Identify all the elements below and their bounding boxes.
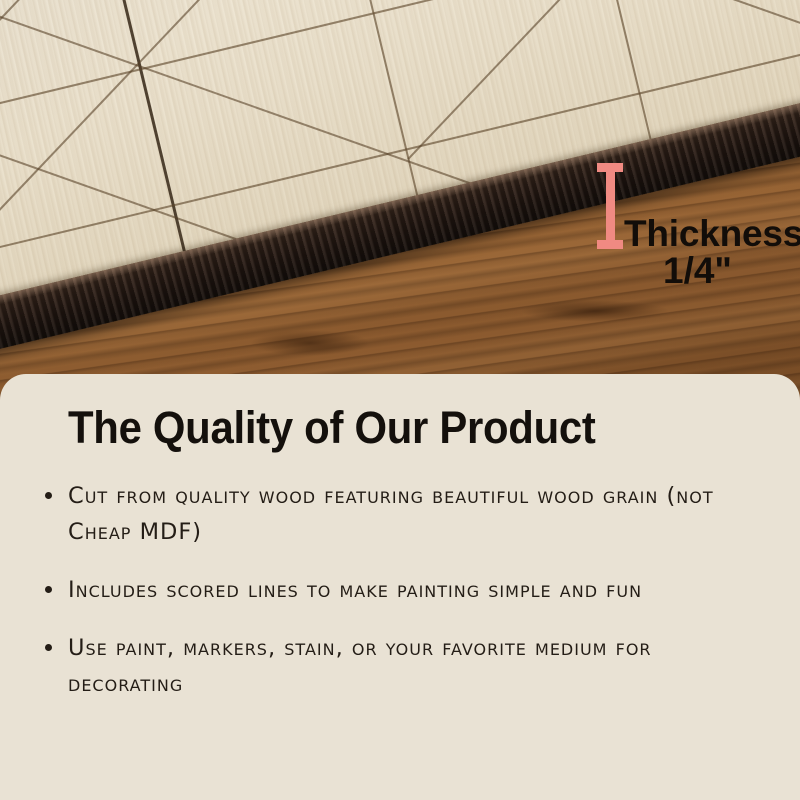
bullet-dot-icon (45, 492, 52, 499)
list-item-text: Includes scored lines to make painting s… (68, 577, 642, 603)
wood-knot (520, 300, 670, 322)
scored-line-diagonal (334, 0, 800, 113)
list-item-text: Use paint, markers, stain, or your favor… (68, 635, 652, 697)
list-item: Includes scored lines to make painting s… (40, 572, 770, 608)
bullet-dot-icon (45, 586, 52, 593)
scored-line-horizontal (0, 0, 800, 13)
page-title: The Quality of Our Product (68, 402, 596, 454)
thickness-bracket-icon (597, 163, 623, 249)
thickness-label: Thickness (624, 213, 800, 255)
list-item-text: Cut from quality wood featuring beautifu… (68, 483, 714, 545)
wood-knot (250, 330, 370, 356)
product-feature-graphic: Thickness 1/4" The Quality of Our Produc… (0, 0, 800, 800)
quality-info-panel: The Quality of Our Product Cut from qual… (0, 374, 800, 800)
feature-list: Cut from quality wood featuring beautifu… (40, 478, 770, 724)
bracket-cap-bottom (597, 240, 623, 249)
list-item: Cut from quality wood featuring beautifu… (40, 478, 770, 550)
list-item: Use paint, markers, stain, or your favor… (40, 630, 770, 702)
bracket-stem (606, 163, 615, 249)
thickness-value: 1/4" (663, 250, 732, 292)
bullet-dot-icon (45, 644, 52, 651)
product-photo: Thickness 1/4" (0, 0, 800, 400)
